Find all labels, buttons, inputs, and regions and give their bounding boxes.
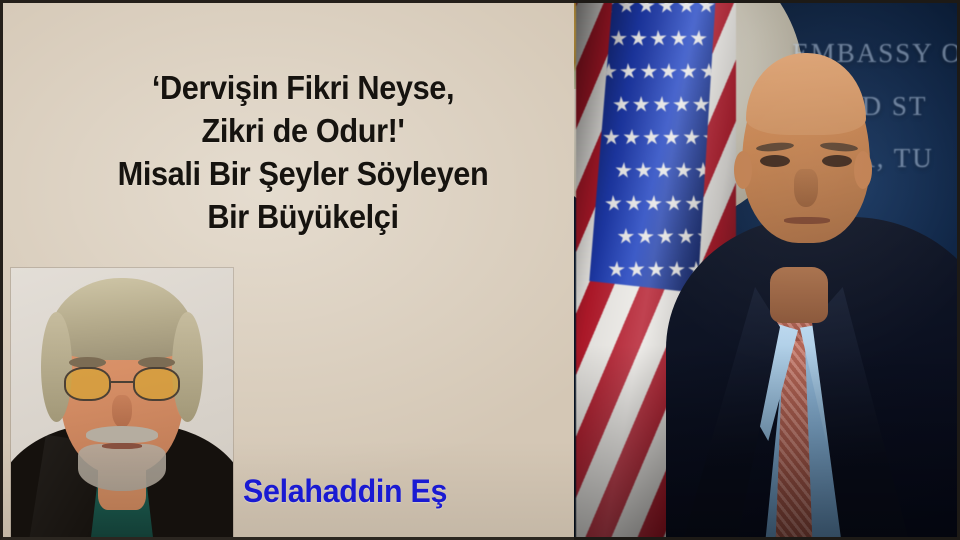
- article-text-panel: ‘Dervişin Fikri Neyse, Zikri de Odur!' M…: [0, 0, 574, 540]
- headline-line-3: Misali Bir Şeyler Söyleyen: [80, 153, 526, 196]
- ambassador-eye-right: [822, 155, 852, 167]
- ambassador-eye-left: [760, 155, 790, 167]
- portrait-eyeglass-lens-right: [133, 367, 180, 401]
- headline-line-2: Zikri de Odur!': [80, 110, 526, 153]
- portrait-hair-side-right: [172, 312, 203, 422]
- headline-line-1: ‘Dervişin Fikri Neyse,: [80, 67, 526, 110]
- page-title: ‘Dervişin Fikri Neyse, Zikri de Odur!' M…: [63, 67, 543, 239]
- portrait-mouth: [102, 443, 142, 449]
- portrait-hair-side-left: [41, 312, 72, 422]
- portrait-beard: [78, 444, 167, 491]
- ambassador-press-photo: EMBASSY O NITED ST KARA, TU: [574, 0, 960, 540]
- headline-line-4: Bir Büyükelçi: [80, 196, 526, 239]
- ambassador-nose: [794, 169, 818, 207]
- ambassador-ear-right: [854, 151, 872, 189]
- portrait-mustache: [86, 426, 157, 443]
- portrait-eyeglass-bridge: [111, 381, 133, 383]
- ambassador-neck: [770, 267, 828, 323]
- author-byline: Selahaddin Eş: [243, 473, 447, 510]
- ambassador-ear-left: [734, 151, 752, 189]
- portrait-eyeglass-lens-left: [64, 367, 111, 401]
- author-portrait-photo: [11, 268, 233, 540]
- ambassador-mouth: [784, 217, 830, 224]
- article-banner: ‘Dervişin Fikri Neyse, Zikri de Odur!' M…: [0, 0, 960, 540]
- portrait-nose: [112, 395, 132, 428]
